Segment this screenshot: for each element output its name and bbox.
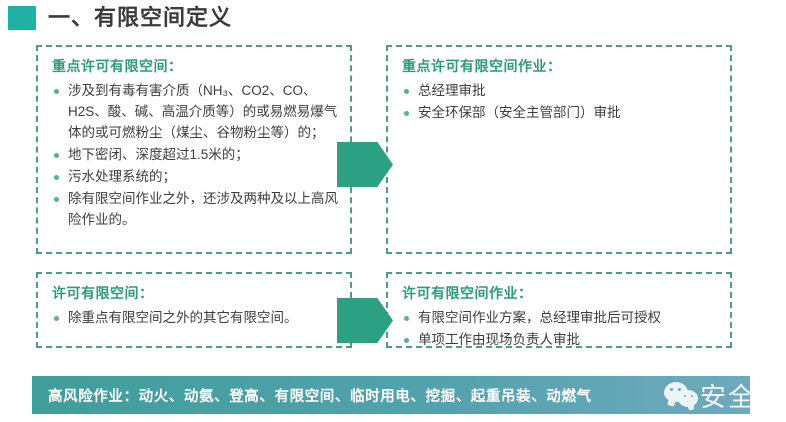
high-risk-work-banner: 高风险作业：动火、动氨、登高、有限空间、临时用电、挖掘、起重吊装、动燃气: [32, 376, 750, 414]
box-content: 许可有限空间： 除重点有限空间之外的其它有限空间。: [38, 274, 350, 336]
list-item: 地下密闭、深度超过1.5米的；: [52, 145, 338, 166]
list-item: 污水处理系统的；: [52, 167, 338, 188]
box-content: 重点许可有限空间作业： 总经理审批 安全环保部（安全主管部门）审批: [388, 47, 730, 131]
box-heading: 许可有限空间：: [52, 284, 338, 302]
box-bullet-list: 总经理审批 安全环保部（安全主管部门）审批: [402, 81, 718, 124]
slide-canvas: 一、有限空间定义 重点许可有限空间： 涉及到有毒有害介质（NH₃、CO2、CO、…: [0, 0, 786, 422]
box-bullet-list: 有限空间作业方案，总经理审批后可授权 单项工作由现场负责人审批: [402, 308, 718, 351]
box-heading: 重点许可有限空间作业：: [402, 57, 718, 75]
arrow-right-icon-bottom: [337, 298, 393, 343]
box-heading: 重点许可有限空间：: [52, 57, 338, 75]
box-key-permit-confined-space: 重点许可有限空间： 涉及到有毒有害介质（NH₃、CO2、CO、H2S、酸、碱、高…: [36, 45, 352, 254]
box-permit-confined-space: 许可有限空间： 除重点有限空间之外的其它有限空间。: [36, 272, 352, 348]
title-marker-square: [8, 6, 36, 30]
list-item: 除重点有限空间之外的其它有限空间。: [52, 308, 338, 329]
arrow-right-icon-top: [337, 142, 393, 187]
page-title: 一、有限空间定义: [8, 3, 232, 33]
list-item: 有限空间作业方案，总经理审批后可授权: [402, 308, 718, 329]
list-item: 单项工作由现场负责人审批: [402, 330, 718, 351]
box-bullet-list: 除重点有限空间之外的其它有限空间。: [52, 308, 338, 329]
list-item: 总经理审批: [402, 81, 718, 102]
high-risk-work-banner-text: 高风险作业：动火、动氨、登高、有限空间、临时用电、挖掘、起重吊装、动燃气: [48, 385, 592, 406]
list-item: 涉及到有毒有害介质（NH₃、CO2、CO、H2S、酸、碱、高温介质等）的或易燃易…: [52, 81, 338, 144]
box-permit-confined-space-work: 许可有限空间作业： 有限空间作业方案，总经理审批后可授权 单项工作由现场负责人审…: [386, 272, 732, 348]
box-bullet-list: 涉及到有毒有害介质（NH₃、CO2、CO、H2S、酸、碱、高温介质等）的或易燃易…: [52, 81, 338, 230]
box-key-permit-confined-space-work: 重点许可有限空间作业： 总经理审批 安全环保部（安全主管部门）审批: [386, 45, 732, 254]
list-item: 安全环保部（安全主管部门）审批: [402, 103, 718, 124]
box-heading: 许可有限空间作业：: [402, 284, 718, 302]
list-item: 除有限空间作业之外，还涉及两种及以上高风险作业的。: [52, 189, 338, 231]
box-content: 许可有限空间作业： 有限空间作业方案，总经理审批后可授权 单项工作由现场负责人审…: [388, 274, 730, 358]
box-content: 重点许可有限空间： 涉及到有毒有害介质（NH₃、CO2、CO、H2S、酸、碱、高…: [38, 47, 350, 238]
page-title-text: 一、有限空间定义: [48, 7, 232, 29]
